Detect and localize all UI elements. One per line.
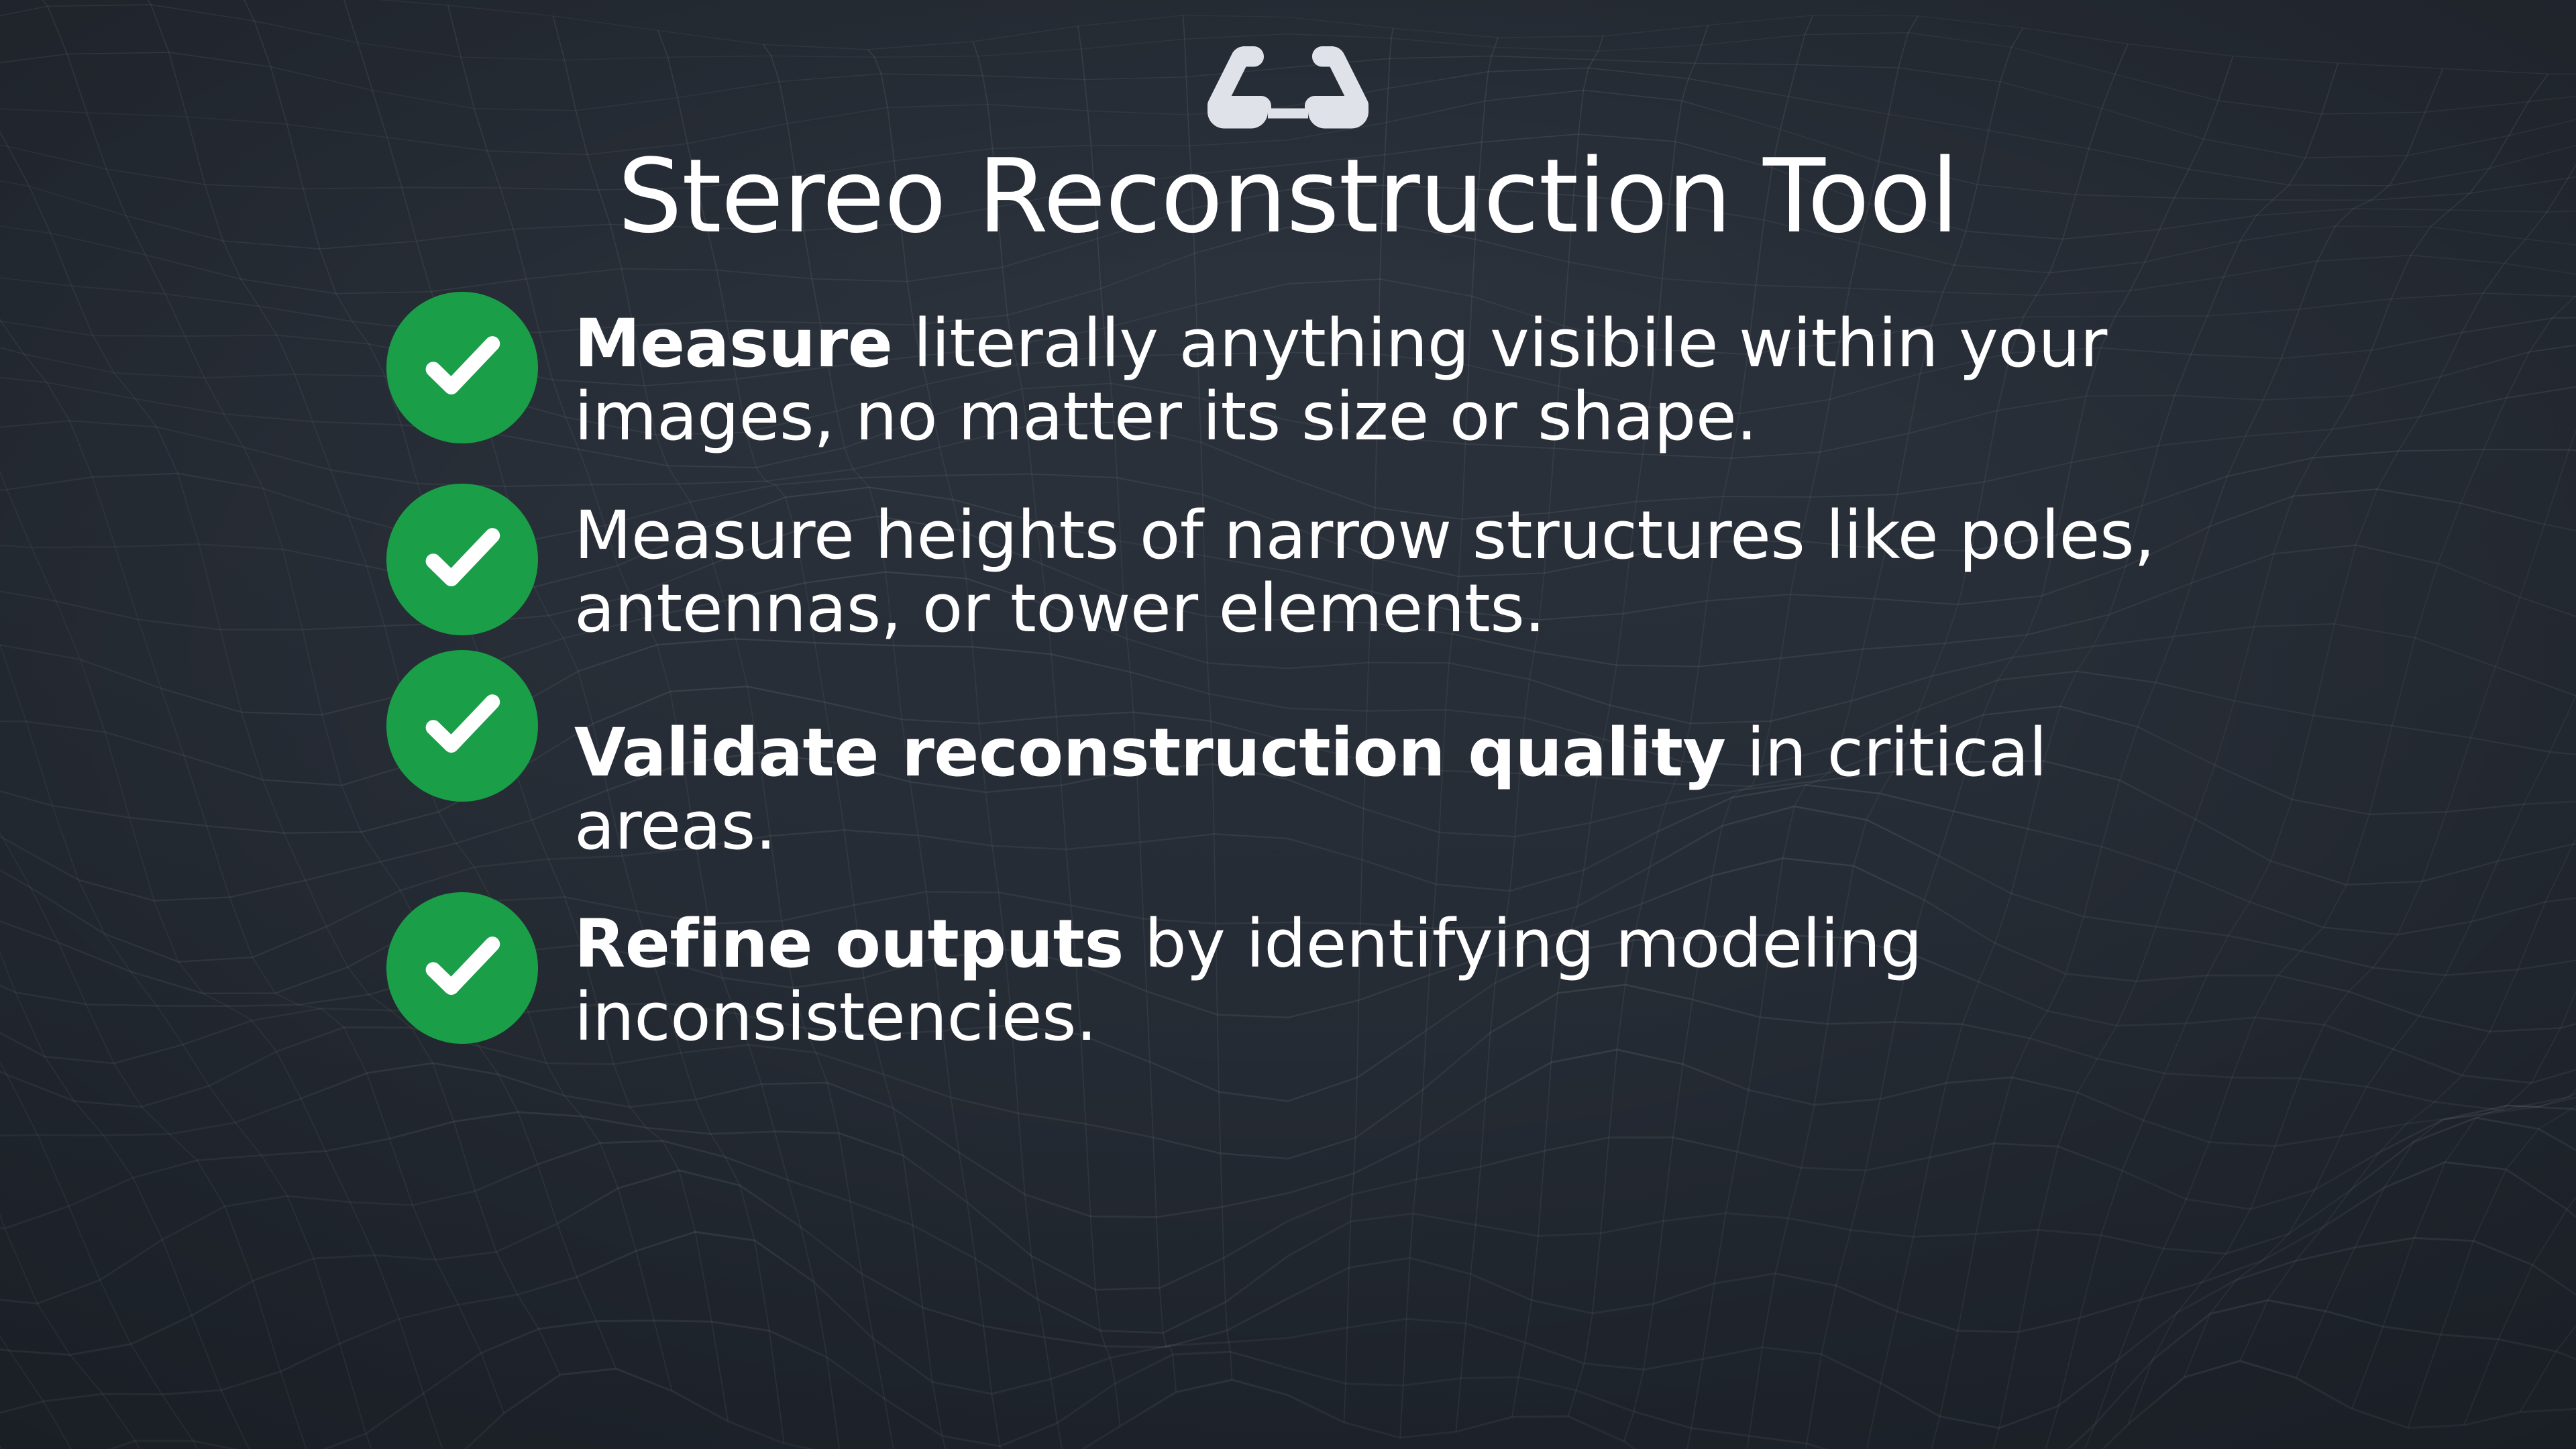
- glasses-icon: [1204, 43, 1372, 130]
- list-item: Refine outputs by identifying modeling i…: [386, 904, 2238, 1055]
- feature-text: Measure literally anything visibile with…: [574, 304, 2238, 454]
- list-item: Validate reconstruction quality in criti…: [386, 688, 2238, 863]
- check-circle-icon: [386, 892, 538, 1044]
- feature-list: Measure literally anything visibile with…: [386, 303, 2238, 1055]
- feature-lead: Validate reconstruction quality: [574, 714, 1725, 792]
- feature-rest: Measure heights of narrow structures lik…: [574, 497, 2155, 647]
- page-title: Stereo Reconstruction Tool: [618, 142, 1959, 250]
- check-circle-icon: [386, 484, 538, 635]
- feature-lead: Refine outputs: [574, 906, 1124, 983]
- feature-lead: Measure: [574, 305, 892, 382]
- feature-text: Refine outputs by identifying modeling i…: [574, 904, 2238, 1055]
- check-circle-icon: [386, 292, 538, 443]
- list-item: Measure literally anything visibile with…: [386, 304, 2238, 454]
- list-item: Measure heights of narrow structures lik…: [386, 496, 2238, 646]
- feature-text: Validate reconstruction quality in criti…: [574, 688, 2238, 863]
- check-circle-icon: [386, 650, 538, 802]
- feature-text: Measure heights of narrow structures lik…: [574, 496, 2238, 646]
